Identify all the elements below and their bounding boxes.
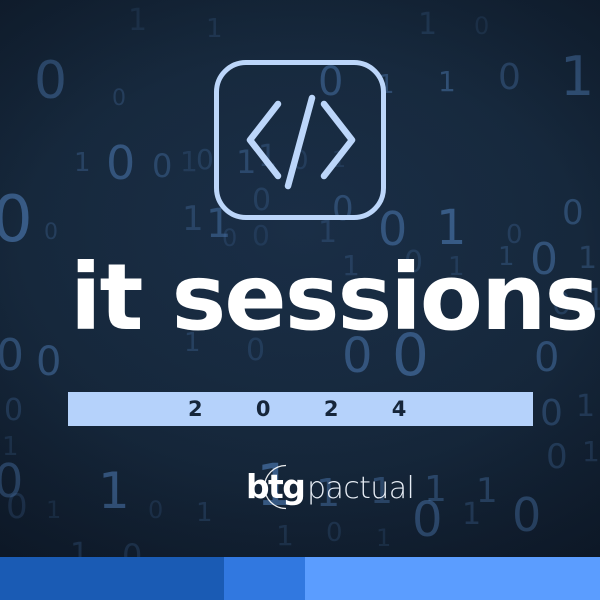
year-label: 2 0 2 4 [188, 397, 429, 421]
binary-digit: 1 [2, 434, 19, 460]
band-light-blue [305, 557, 600, 600]
binary-digit: 0 [546, 440, 568, 474]
binary-digit: 0 [152, 150, 172, 182]
binary-digit: 1 [424, 472, 447, 508]
year-banner: 2 0 2 4 [68, 392, 533, 426]
btg-pactual-logo: btg pactual [224, 462, 384, 512]
binary-digit: 0 [148, 498, 163, 522]
binary-digit: 0 [6, 490, 28, 524]
binary-digit: 0 [562, 196, 584, 230]
binary-digit: 1 [376, 526, 391, 550]
binary-digit: 1 [182, 202, 204, 236]
binary-digit: 1 [98, 466, 130, 516]
band-medium-blue [224, 557, 305, 600]
binary-digit: 1 [576, 392, 595, 422]
binary-digit: 0 [498, 60, 521, 96]
binary-digit: 1 [560, 50, 594, 104]
binary-digit: 0 [412, 496, 443, 544]
binary-digit: 0 [0, 458, 23, 504]
poster-canvas: 0010110100001010001000011111101011011010… [0, 0, 600, 600]
binary-digit: 1 [74, 150, 91, 176]
binary-digit: 1 [438, 68, 456, 96]
binary-digit: 1 [46, 498, 61, 522]
binary-digit: 1 [180, 148, 198, 176]
binary-digit: 0 [512, 492, 541, 538]
binary-digit: 1 [462, 500, 481, 530]
binary-digit: 0 [34, 55, 67, 107]
page-title: it sessions [70, 252, 540, 344]
binary-digit: 0 [326, 520, 343, 546]
logo-primary-text: btg [246, 468, 304, 506]
binary-digit: 1 [418, 10, 437, 40]
binary-digit: 1 [476, 474, 498, 508]
binary-digit: 0 [0, 188, 33, 252]
binary-digit: 1 [206, 16, 223, 42]
binary-digit: 0 [44, 222, 58, 244]
bottom-color-bands [0, 557, 600, 600]
binary-digit: 1 [276, 522, 294, 550]
binary-digit: 0 [106, 140, 135, 186]
binary-digit: 0 [112, 88, 126, 110]
binary-digit: 1 [128, 6, 147, 36]
binary-digit: 0 [0, 334, 24, 378]
binary-digit: 1 [582, 438, 600, 466]
binary-digit: 0 [4, 396, 23, 426]
binary-digit: 0 [540, 396, 563, 432]
binary-digit: 0 [36, 342, 61, 382]
binary-digit: 0 [474, 14, 489, 38]
code-brackets-icon [214, 60, 386, 220]
logo-secondary-text: pactual [307, 471, 414, 507]
binary-digit: 0 [196, 146, 214, 174]
binary-digit: 1 [196, 500, 213, 526]
band-dark-blue [0, 557, 224, 600]
